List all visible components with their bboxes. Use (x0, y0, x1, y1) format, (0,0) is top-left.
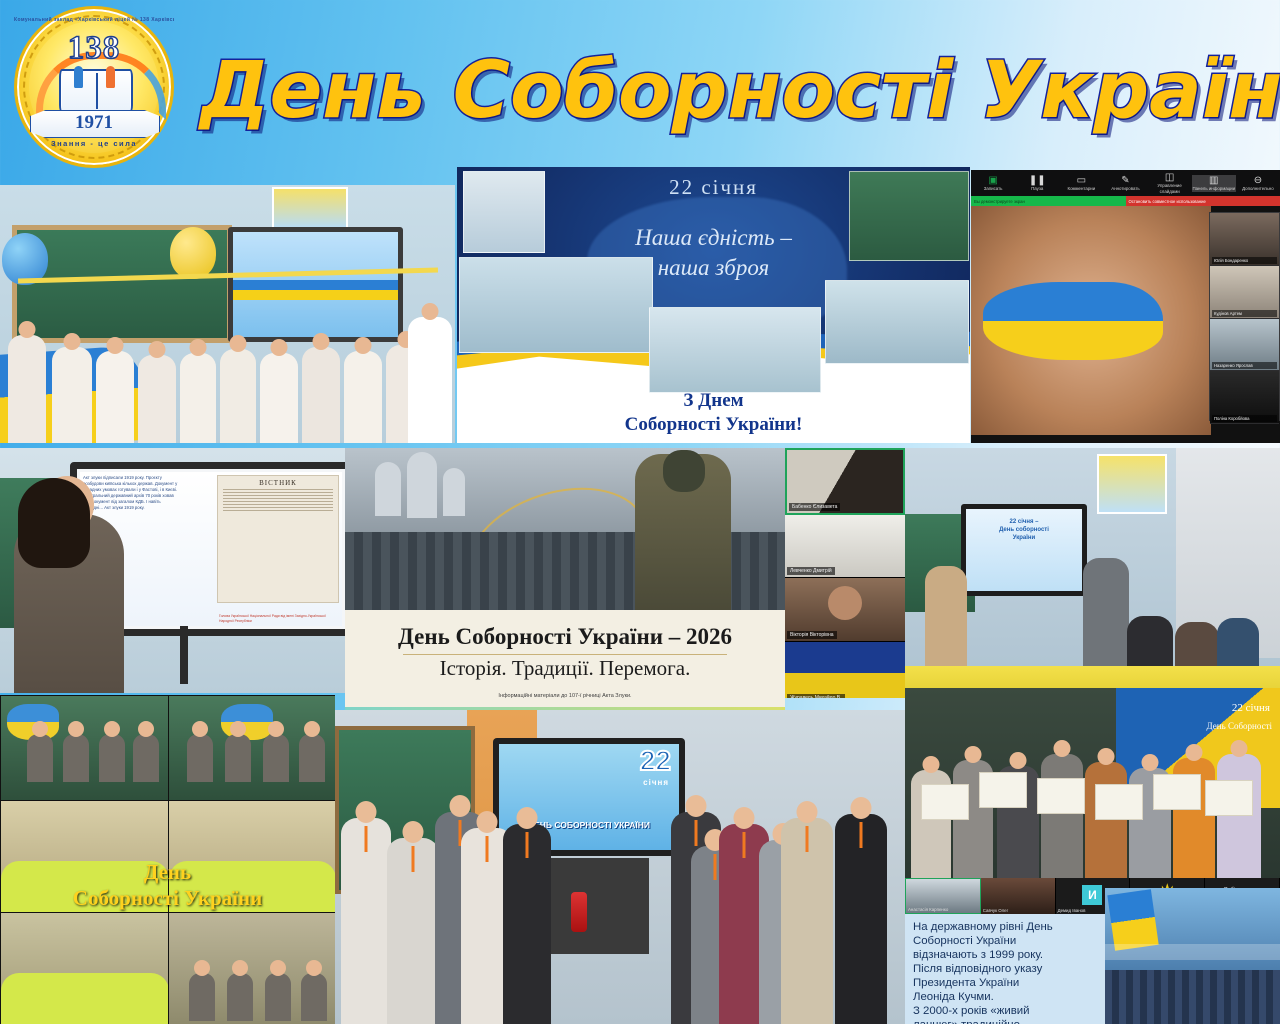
desk (1, 973, 169, 1024)
pupil (301, 973, 327, 1021)
document-line (223, 510, 333, 511)
pencil-icon: ✎ (1103, 175, 1147, 186)
zoom-toolbar-label: Комментарии (1068, 186, 1096, 191)
document-line (223, 507, 333, 508)
pupil-figure-blue-icon (74, 66, 83, 88)
stop-share-button[interactable]: Остановить совместное использование (1126, 196, 1280, 206)
pupil (52, 347, 92, 443)
document-line (223, 501, 333, 502)
participant-name: Бабенко Єлизавета (789, 503, 840, 511)
classroom-ribbon-photo (0, 185, 455, 443)
overlay-line-1: День (0, 859, 335, 885)
soldier-figure (635, 454, 731, 610)
student (341, 818, 391, 1024)
collage-thumb-hearts (849, 171, 969, 261)
participant-name: Кудінов Артем (1212, 310, 1277, 317)
zoom-comments-button[interactable]: ▭ Комментарии (1059, 175, 1103, 192)
greeting-line-1: З Днем (457, 389, 970, 413)
teacher-whiteboard-photo: Акт злуки підписали 1919 року. Проєкту р… (0, 448, 345, 693)
shared-screen-hands-image (971, 206, 1211, 435)
info-text: На державному рівні День Соборності Укра… (905, 914, 1105, 1024)
pupil (99, 734, 125, 782)
child-drawing (1205, 780, 1253, 816)
collage-cell (0, 695, 170, 802)
ukraine-map-drawing-icon (221, 704, 273, 740)
banner-title: День Соборності України – 2026 (345, 624, 785, 650)
greeting-line-2: Соборності України! (457, 413, 970, 437)
zoom-participant-tile[interactable]: Поліна Коробйова (1210, 371, 1279, 424)
collage-thumb-group (649, 307, 821, 393)
pupil (96, 351, 134, 443)
zoom-participant-tile[interactable]: Бабенко Єлизавета (785, 448, 905, 515)
screen-text: 22 січня – День соборності України (961, 518, 1087, 542)
collage-thumb-puzzle (825, 280, 969, 364)
pupil (189, 973, 215, 1021)
open-book-icon (59, 69, 133, 113)
soborniсt-banner: День Соборності України – 2026 Історія. … (345, 448, 785, 715)
collage-cell (168, 695, 335, 802)
banner-divider (403, 654, 727, 655)
zoom-participant-column[interactable]: Бабенко Єлизавета Левченко Дмитрій Вікто… (785, 448, 905, 698)
zoom-participant-tile[interactable]: Вікторія Вікторівна (785, 578, 905, 642)
lanyard (526, 832, 529, 858)
pupil (187, 734, 213, 782)
zoom-participant-tile[interactable]: Анастасія Карпенко (905, 878, 981, 914)
avatar (828, 586, 862, 620)
lanyard (714, 854, 717, 880)
screen-line-2: День соборності (961, 526, 1087, 534)
lanyard (860, 822, 863, 848)
teacher (408, 317, 452, 443)
historical-document: ВІСТНИК (217, 475, 339, 603)
document-line (223, 495, 333, 496)
zoom-toolbar[interactable]: ▣ Записать ❚❚ Пауза ▭ Комментарии ✎ Анно… (971, 170, 1280, 196)
ukraine-map-flag-icon (983, 282, 1163, 360)
pupil (1085, 762, 1127, 878)
emblem-arc-text: Комунальний заклад «Харківський ліцей № … (14, 17, 174, 24)
more-icon: ⊖ (1236, 175, 1280, 186)
participant-name: Назаренко Ярослав (1212, 362, 1277, 369)
pupil (263, 734, 289, 782)
participant-name: Юлія Бондаренко (1212, 257, 1277, 264)
people-chain (1105, 970, 1280, 1024)
info-panel-icon: ▥ (1192, 175, 1236, 186)
collage-thumb-teacher (463, 171, 545, 253)
participant-name: Вікторія Вікторівна (787, 631, 837, 639)
screen-line-1: 22 січня (1232, 702, 1270, 714)
bottom-yellow-strip (905, 666, 1280, 688)
info-line-4: Після відповідного указу (913, 962, 1099, 976)
church-dome-icon (443, 468, 465, 516)
living-chain-photo (1105, 888, 1280, 1024)
slide-body-text: Акт злуки підписали 1919 року. Проєкту р… (83, 475, 178, 511)
child-drawing (921, 784, 969, 820)
pause-icon: ❚❚ (1015, 175, 1059, 186)
church-dome-icon (407, 452, 437, 518)
zoom-participant-tile[interactable]: Юлія Бондаренко (1210, 213, 1279, 266)
zoom-participant-strip[interactable]: Юлія Бондаренко Кудінов Артем Назаренко … (1209, 212, 1280, 421)
banner-photo (345, 448, 785, 610)
zoom-participant-tile[interactable]: Левченко Дмитрій (785, 515, 905, 579)
pupil-figure-orange-icon (106, 66, 115, 88)
header: Комунальний заклад «Харківський ліцей № … (0, 0, 1280, 170)
student (835, 814, 887, 1024)
lanyard (806, 826, 809, 852)
screen-line-3: України (961, 534, 1087, 542)
teacher-hair (18, 478, 90, 568)
lanyard (743, 832, 746, 858)
page-title: День Соборності України (200, 48, 1270, 134)
comment-icon: ▭ (1059, 175, 1103, 186)
zoom-toolbar-label: Управление слайдами (1157, 183, 1181, 194)
banner-subtitle: Історія. Традиції. Перемога. (345, 656, 785, 681)
collage-overlay-text: День Соборності України (0, 859, 335, 911)
emblem-number: 138 (14, 30, 174, 67)
emblem-motto: Знання - це сила (14, 139, 174, 148)
lanyard (486, 836, 489, 862)
pupil (138, 355, 176, 443)
presentation-screen: 22 січня – День соборності України (961, 504, 1087, 596)
pupil (1041, 754, 1083, 878)
zoom-share-status-bar: Вы демонстрируете экран Остановить совме… (971, 196, 1280, 206)
collage-cell (0, 912, 170, 1024)
lanyard (365, 826, 368, 852)
overlay-line-2: Соборності України (0, 885, 335, 911)
poster-page: Комунальний заклад «Харківський ліцей № … (0, 0, 1280, 1024)
info-line-8: ланцюг» традиційно (913, 1018, 1099, 1024)
lanyard (412, 846, 415, 872)
interactive-screen (228, 227, 403, 342)
zoom-toolbar-label: Дополнительно (1242, 186, 1274, 191)
pupil (27, 734, 53, 782)
participant-name: Анастасія Карпенко (908, 907, 948, 912)
zoom-annotate-button[interactable]: ✎ Аннотировать (1103, 175, 1147, 192)
document-line (223, 492, 333, 493)
school-emblem-icon: Комунальний заклад «Харківський ліцей № … (14, 6, 174, 168)
participant-name: Журавель Михайло В. (787, 694, 845, 698)
screen-blue-band (233, 280, 398, 290)
children-drawings-photo: 22 січня День Соборності (905, 688, 1280, 878)
info-line-1: На державному рівні День (913, 920, 1099, 934)
fire-extinguisher-icon (571, 892, 587, 932)
students-presentation-photo: 22 січня – День соборності України (905, 448, 1280, 688)
participant-name: Демид Іванов (1058, 908, 1086, 913)
child-drawing (1037, 778, 1085, 814)
student (503, 824, 551, 1024)
zoom-toolbar-label: Аннотировать (1111, 186, 1139, 191)
pupil (302, 347, 340, 443)
collage-thumb-class (459, 257, 653, 353)
zoom-more-button[interactable]: ⊖ Дополнительно (1236, 175, 1280, 192)
zoom-info-panel-button[interactable]: ▥ Панель информации (1192, 175, 1236, 192)
record-icon: ▣ (971, 175, 1015, 186)
zoom-meeting-panel[interactable]: ▣ Записать ❚❚ Пауза ▭ Комментарии ✎ Анно… (971, 170, 1280, 443)
zoom-toolbar-label: Пауза (1031, 186, 1043, 191)
pupil (220, 349, 256, 443)
pupil (63, 734, 89, 782)
participant-name: Савчук Олег (983, 908, 1008, 913)
screen-line-2: День Соборності (1207, 720, 1272, 732)
greeting-collage-slide: 22 січня Наша єдність – наша зброя З Дне… (457, 167, 970, 443)
document-line (223, 489, 333, 490)
pupil (8, 335, 46, 443)
screen-line-1: 22 січня – (961, 518, 1087, 526)
zoom-toolbar-label: Панель информации (1192, 186, 1235, 191)
pupil (299, 734, 325, 782)
zoom-participant-tile[interactable]: Журавель Михайло В. (785, 642, 905, 699)
wall-poster (272, 187, 348, 229)
sharing-indicator: Вы демонстрируете экран (971, 196, 1126, 206)
info-line-7: З 2000-х років «живий (913, 1004, 1099, 1018)
document-line (223, 504, 333, 505)
document-line (223, 498, 333, 499)
balloon-yellow-icon (170, 227, 216, 279)
pupil (260, 353, 298, 443)
pupil (180, 353, 216, 443)
lanyard (695, 820, 698, 846)
class-group-photo: 22 січня ДЕНЬ СОБОРНОСТІ УКРАЇНИ (335, 710, 910, 1024)
child-drawing (979, 772, 1027, 808)
child-drawing (1153, 774, 1201, 810)
student (781, 818, 833, 1024)
church-dome-icon (375, 462, 401, 516)
horizon-line (1105, 944, 1280, 960)
pupil (344, 351, 382, 443)
document-title: ВІСТНИК (218, 479, 338, 487)
info-text-block: На державному рівні День Соборності Укра… (905, 914, 1105, 1024)
emblem-year: 1971 (14, 112, 174, 134)
zoom-pause-button[interactable]: ❚❚ Пауза (1015, 175, 1059, 192)
info-line-6: Леоніда Кучми. (913, 990, 1099, 1004)
screen-month: січня (643, 778, 669, 787)
slides-icon: ◫ (1148, 172, 1192, 183)
zoom-record-button[interactable]: ▣ Записать (971, 175, 1015, 192)
whiteboard-stand (180, 626, 188, 684)
pupil (1217, 754, 1261, 878)
zoom-participant-tile[interactable]: Кудінов Артем (1210, 266, 1279, 319)
zoom-participant-tile[interactable]: Савчук Олег (981, 878, 1056, 914)
pupil (265, 973, 291, 1021)
zoom-toolbar-label: Записать (984, 186, 1003, 191)
greeting-text: З Днем Соборності України! (457, 389, 970, 437)
info-line-2: Соборності України (913, 934, 1099, 948)
pupil (225, 734, 251, 782)
state-symbols-poster (1097, 454, 1167, 514)
zoom-participant-tile[interactable]: Назаренко Ярослав (1210, 319, 1279, 372)
ukrainian-flag-icon (1107, 889, 1158, 951)
student (387, 838, 439, 1024)
screen-yellow-band (233, 290, 398, 300)
participant-name: Поліна Коробйова (1212, 415, 1277, 422)
pupils-collage: День Соборності України (0, 695, 335, 1024)
screen-number: 22 (640, 748, 671, 774)
participant-name: Левченко Дмитрій (787, 567, 835, 575)
info-line-3: відзначають з 1999 року. (913, 948, 1099, 962)
letter-avatar: И (1082, 885, 1102, 905)
zoom-slides-button[interactable]: ◫ Управление слайдами (1148, 172, 1192, 195)
collage-cell (168, 912, 335, 1024)
banner-caption: Інформаційні матеріали до 107-ї річниці … (345, 693, 785, 699)
info-line-5: Президента України (913, 976, 1099, 990)
pupil (227, 973, 253, 1021)
slide-red-note: Голова Української Національної Ради від… (219, 614, 339, 623)
child-drawing (1095, 784, 1143, 820)
pupil (133, 734, 159, 782)
